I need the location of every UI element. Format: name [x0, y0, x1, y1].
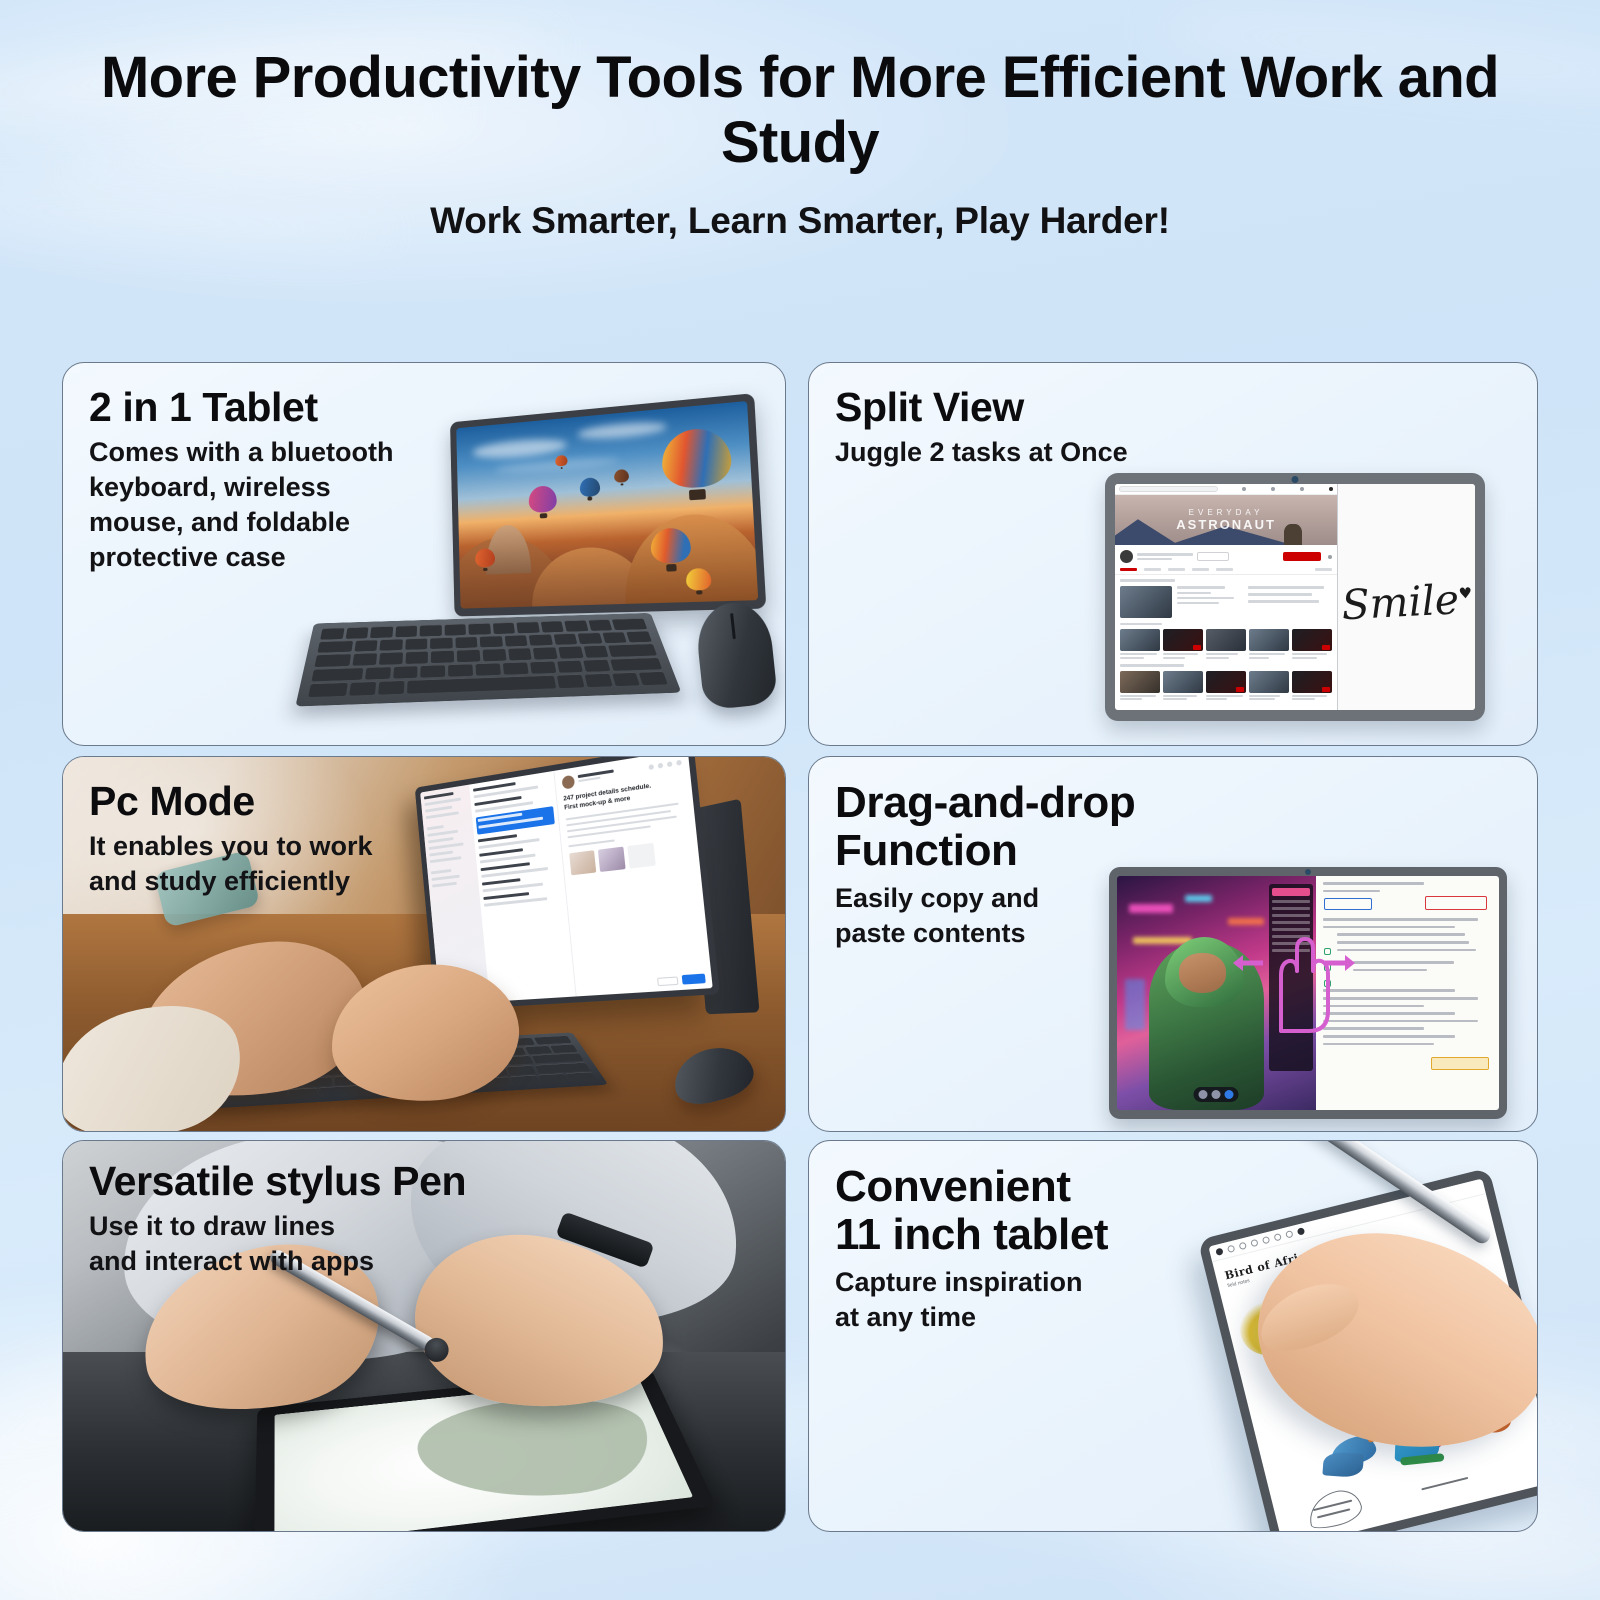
channel-content — [1115, 575, 1337, 710]
page-title: More Productivity Tools for More Efficie… — [0, 46, 1600, 176]
card-title: Drag-and-drop Function — [835, 779, 1195, 876]
banner-line-2: ASTRONAUT — [1176, 518, 1276, 531]
character-face — [1179, 953, 1227, 993]
card-description: Juggle 2 tasks at Once — [835, 435, 1235, 470]
channel-tabs[interactable] — [1115, 568, 1337, 575]
keyboard-keys — [308, 618, 668, 697]
smile-word: Smile — [1340, 575, 1460, 629]
tablet-screen — [274, 1378, 693, 1532]
card-text-block: Pc Mode It enables you to work and study… — [89, 779, 469, 899]
list-item[interactable] — [483, 889, 562, 907]
layers-icon[interactable] — [1273, 1233, 1281, 1241]
card-text-block: Versatile stylus Pen Use it to draw line… — [89, 1159, 609, 1279]
more-icon[interactable] — [676, 760, 682, 766]
card-text-block: Convenient 11 inch tablet Capture inspir… — [835, 1163, 1215, 1335]
video-card[interactable] — [1292, 671, 1332, 702]
feature-card-convenient-11-inch: Convenient 11 inch tablet Capture inspir… — [808, 1140, 1538, 1532]
search-input[interactable] — [1119, 486, 1218, 492]
video-grid-row[interactable] — [1120, 629, 1332, 660]
card-text-block: Split View Juggle 2 tasks at Once — [835, 385, 1235, 470]
pen-tool-icon[interactable] — [1215, 1247, 1223, 1255]
feature-card-drag-and-drop: Drag-and-drop Function Easily copy and p… — [808, 756, 1538, 1132]
video-upload-icon[interactable] — [1242, 487, 1246, 491]
card-title: Pc Mode — [89, 779, 469, 824]
feature-card-stylus-pen: Versatile stylus Pen Use it to draw line… — [62, 1140, 786, 1532]
eraser-icon[interactable] — [1212, 1090, 1221, 1099]
feature-card-split-view: Split View Juggle 2 tasks at Once — [808, 362, 1538, 746]
card-title: Versatile stylus Pen — [89, 1159, 609, 1204]
handwriting-note-pane[interactable]: Smile♥ — [1338, 484, 1475, 710]
target-highlight-box — [1425, 896, 1487, 910]
cancel-button[interactable] — [657, 976, 678, 986]
handwritten-smile-text: Smile♥ — [1340, 574, 1473, 629]
video-card[interactable] — [1120, 629, 1160, 660]
send-button[interactable] — [682, 974, 706, 985]
apps-grid-icon[interactable] — [1271, 487, 1275, 491]
screen-graphic — [411, 1390, 670, 1511]
lasso-tool-icon[interactable] — [1262, 1236, 1270, 1244]
yellow-highlight-box — [1431, 1057, 1489, 1070]
layers-icon[interactable] — [1225, 1090, 1234, 1099]
tab-playlists[interactable] — [1192, 568, 1209, 571]
eraser-tool-icon[interactable] — [1239, 1242, 1247, 1250]
channel-banner: EVERYDAY ASTRONAUT — [1115, 495, 1337, 545]
reply-icon[interactable] — [648, 764, 654, 770]
video-card[interactable] — [1163, 629, 1203, 660]
brush-tool-icon[interactable] — [1227, 1245, 1235, 1253]
card-title: Split View — [835, 385, 1235, 430]
card-description: Easily copy and paste contents — [835, 881, 1195, 951]
archive-icon[interactable] — [667, 761, 673, 767]
checkbox-icon[interactable] — [1324, 948, 1331, 955]
bluetooth-keyboard[interactable] — [295, 613, 681, 707]
card-description: Use it to draw lines and interact with a… — [89, 1209, 609, 1279]
card-description: Capture inspiration at any time — [835, 1265, 1215, 1335]
tab-home[interactable] — [1120, 568, 1137, 571]
checkbox-icon[interactable] — [1324, 980, 1331, 987]
art-app-dock[interactable] — [1194, 1087, 1239, 1102]
video-card[interactable] — [1206, 629, 1246, 660]
card-title: Convenient 11 inch tablet — [835, 1163, 1215, 1260]
avatar — [561, 775, 575, 790]
tablet-screen-balloons — [456, 401, 758, 609]
feature-card-2-in-1-tablet: 2 in 1 Tablet Comes with a bluetooth key… — [62, 362, 786, 746]
mail-action-buttons[interactable] — [657, 974, 706, 987]
featured-video-row[interactable] — [1120, 586, 1332, 618]
brush-icon[interactable] — [1199, 1090, 1208, 1099]
video-card[interactable] — [1292, 629, 1332, 660]
video-thumbnail[interactable] — [1120, 586, 1172, 618]
art-tool-panel[interactable] — [1269, 884, 1313, 1071]
checkbox-icon[interactable] — [1324, 964, 1331, 971]
handwritten-label — [1421, 1477, 1468, 1491]
card-title: 2 in 1 Tablet — [89, 385, 429, 430]
front-camera-icon — [1292, 476, 1299, 483]
wireless-mouse[interactable] — [694, 599, 778, 710]
feature-card-pc-mode: 247 project details schedule. First mock… — [62, 756, 786, 1132]
bird-illustration-feather-sketch — [1299, 1478, 1376, 1532]
tablet-device-split-view: EVERYDAY ASTRONAUT — [1105, 473, 1485, 721]
color-picker-icon[interactable] — [1297, 1227, 1305, 1235]
banner-line-1: EVERYDAY — [1176, 509, 1276, 517]
youtube-app-pane[interactable]: EVERYDAY ASTRONAUT — [1115, 484, 1338, 710]
subscribe-button[interactable] — [1283, 552, 1321, 561]
youtube-topbar — [1115, 484, 1337, 495]
card-description: Comes with a bluetooth keyboard, wireles… — [89, 435, 429, 575]
infographic-page: More Productivity Tools for More Efficie… — [0, 0, 1600, 1600]
outline-highlight-box — [1324, 898, 1372, 910]
tab-videos[interactable] — [1144, 568, 1161, 571]
more-options-icon[interactable] — [1328, 555, 1332, 559]
join-button[interactable] — [1197, 552, 1229, 561]
tablet-device — [450, 393, 766, 616]
bell-icon[interactable] — [1300, 487, 1304, 491]
video-card[interactable] — [1163, 671, 1203, 702]
channel-avatar[interactable] — [1120, 550, 1133, 563]
header: More Productivity Tools for More Efficie… — [0, 0, 1600, 242]
undo-icon[interactable] — [1285, 1230, 1293, 1238]
card-text-block: Drag-and-drop Function Easily copy and p… — [835, 779, 1195, 951]
color-swatch[interactable] — [1272, 888, 1310, 896]
channel-banner-text: EVERYDAY ASTRONAUT — [1176, 509, 1276, 531]
video-card[interactable] — [1249, 629, 1289, 660]
channel-header-row — [1115, 545, 1337, 568]
notes-app-pane[interactable] — [1316, 876, 1499, 1110]
card-text-block: 2 in 1 Tablet Comes with a bluetooth key… — [89, 385, 429, 575]
mail-reading-pane: 247 project details schedule. First mock… — [554, 756, 713, 996]
tab-community[interactable] — [1216, 568, 1233, 571]
front-camera-icon — [1305, 869, 1311, 875]
card-description: It enables you to work and study efficie… — [89, 829, 469, 899]
tab-search[interactable] — [1315, 568, 1332, 571]
shape-tool-icon[interactable] — [1250, 1239, 1258, 1247]
video-card[interactable] — [1120, 671, 1160, 702]
avatar[interactable] — [1329, 487, 1333, 491]
attachment-thumbnail[interactable] — [569, 850, 596, 875]
video-card[interactable] — [1249, 671, 1289, 702]
tab-shorts[interactable] — [1168, 568, 1185, 571]
forward-icon[interactable] — [658, 763, 664, 769]
page-subtitle: Work Smarter, Learn Smarter, Play Harder… — [0, 200, 1600, 242]
attachment-thumbnail[interactable] — [597, 846, 625, 871]
tablet-screen: EVERYDAY ASTRONAUT — [1115, 484, 1475, 710]
attachment-thumbnail[interactable] — [627, 843, 655, 869]
video-grid-row[interactable] — [1120, 671, 1332, 702]
video-card[interactable] — [1206, 671, 1246, 702]
heart-icon: ♥ — [1458, 583, 1472, 602]
